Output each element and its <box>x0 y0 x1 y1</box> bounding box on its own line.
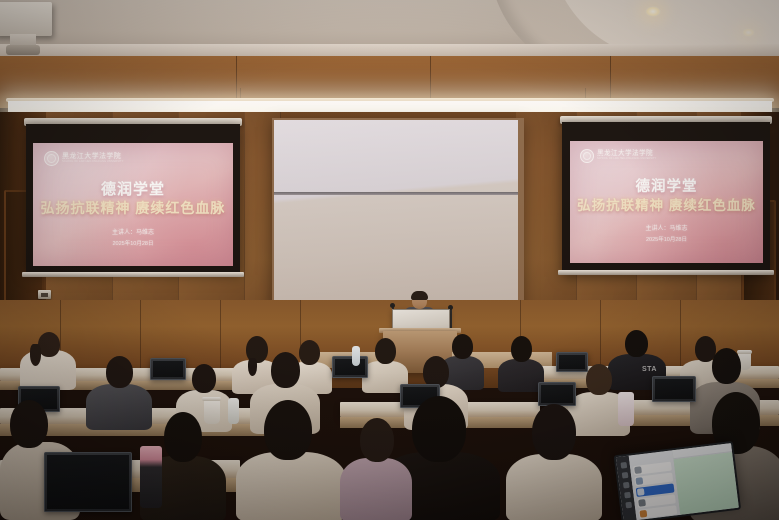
audience-laptop[interactable] <box>538 382 576 406</box>
water-bottle <box>140 446 162 508</box>
person-head <box>586 364 612 395</box>
center-whiteboard[interactable] <box>274 120 518 308</box>
slide-subtitle: 弘扬抗联精神 赓续红色血脉 <box>570 194 763 214</box>
person-torso <box>506 454 602 520</box>
slide-logo: 黑龙江大学法学院 SCHOOL OF LAW HEILONGJIANG UNIV… <box>580 149 656 163</box>
person-torso <box>236 452 346 520</box>
gooseneck-microphone <box>450 308 452 330</box>
slide-logo-en: SCHOOL OF LAW HEILONGJIANG UNIVERSITY <box>597 158 656 161</box>
whiteboard-divider <box>274 192 518 195</box>
university-seal-icon <box>580 149 594 163</box>
slide-presenter: 主讲人：马维志 <box>33 227 233 236</box>
person-head <box>375 338 396 364</box>
recessed-downlight <box>645 6 661 17</box>
presenter-hair <box>411 291 428 300</box>
slide-title: 德润学堂 <box>33 178 233 199</box>
person-head <box>264 400 312 460</box>
audience-laptop[interactable] <box>44 452 132 512</box>
slide-title: 德润学堂 <box>570 175 763 196</box>
projector-lens <box>6 45 40 55</box>
ceiling-projector <box>0 2 52 36</box>
audience-member <box>506 404 602 520</box>
person-head <box>192 364 216 393</box>
right-projection-slide: 黑龙江大学法学院 SCHOOL OF LAW HEILONGJIANG UNIV… <box>570 141 763 263</box>
audience-member <box>362 338 408 390</box>
person-head <box>106 356 133 388</box>
person-torso <box>340 458 412 520</box>
slide-date: 2025年10月28日 <box>33 239 233 247</box>
left-screen-bottom-bar <box>22 272 244 277</box>
university-seal-icon <box>44 151 59 166</box>
person-head <box>38 332 60 357</box>
cup-lid <box>202 397 221 401</box>
person-head <box>360 418 394 462</box>
person-head <box>10 400 48 448</box>
slide-logo-cn: 黑龙江大学法学院 <box>62 153 123 160</box>
person-ponytail <box>30 344 41 366</box>
left-projection-slide: 黑龙江大学法学院 SCHOOL OF LAW HEILONGJIANG UNIV… <box>33 143 233 266</box>
microphone-head <box>390 303 395 308</box>
recessed-downlight <box>742 28 755 37</box>
slide-logo: 黑龙江大学法学院 SCHOOL OF LAW HEILONGJIANG UNIV… <box>44 151 123 166</box>
person-head <box>532 404 576 460</box>
person-head <box>412 396 466 462</box>
water-bottle <box>618 392 634 426</box>
slide-logo-en: SCHOOL OF LAW HEILONGJIANG UNIVERSITY <box>62 161 123 164</box>
person-head <box>164 412 202 462</box>
person-head <box>511 336 532 362</box>
audience-laptop[interactable] <box>332 356 368 378</box>
slide-presenter: 主讲人：马维志 <box>570 223 763 232</box>
right-screen-bottom-bar <box>558 270 774 275</box>
person-head <box>271 352 300 388</box>
slide-logo-cn: 黑龙江大学法学院 <box>597 151 656 158</box>
person-head <box>712 348 741 384</box>
slide-subtitle: 弘扬抗联精神 赓续红色血脉 <box>33 198 233 218</box>
wall-switch-panel[interactable] <box>38 290 51 299</box>
person-head <box>625 330 648 357</box>
foreground-laptop-chat-app[interactable] <box>614 441 742 520</box>
slide-date: 2025年10月28日 <box>570 235 763 243</box>
audience-member <box>498 336 544 390</box>
water-bottle <box>352 346 360 366</box>
audience-member <box>236 400 346 520</box>
shirt-text: STA <box>642 366 657 373</box>
lecture-hall-photo: 黑龙江大学法学院 SCHOOL OF LAW HEILONGJIANG UNIV… <box>0 0 779 520</box>
audience-member <box>340 418 412 520</box>
audience-member <box>20 330 76 388</box>
